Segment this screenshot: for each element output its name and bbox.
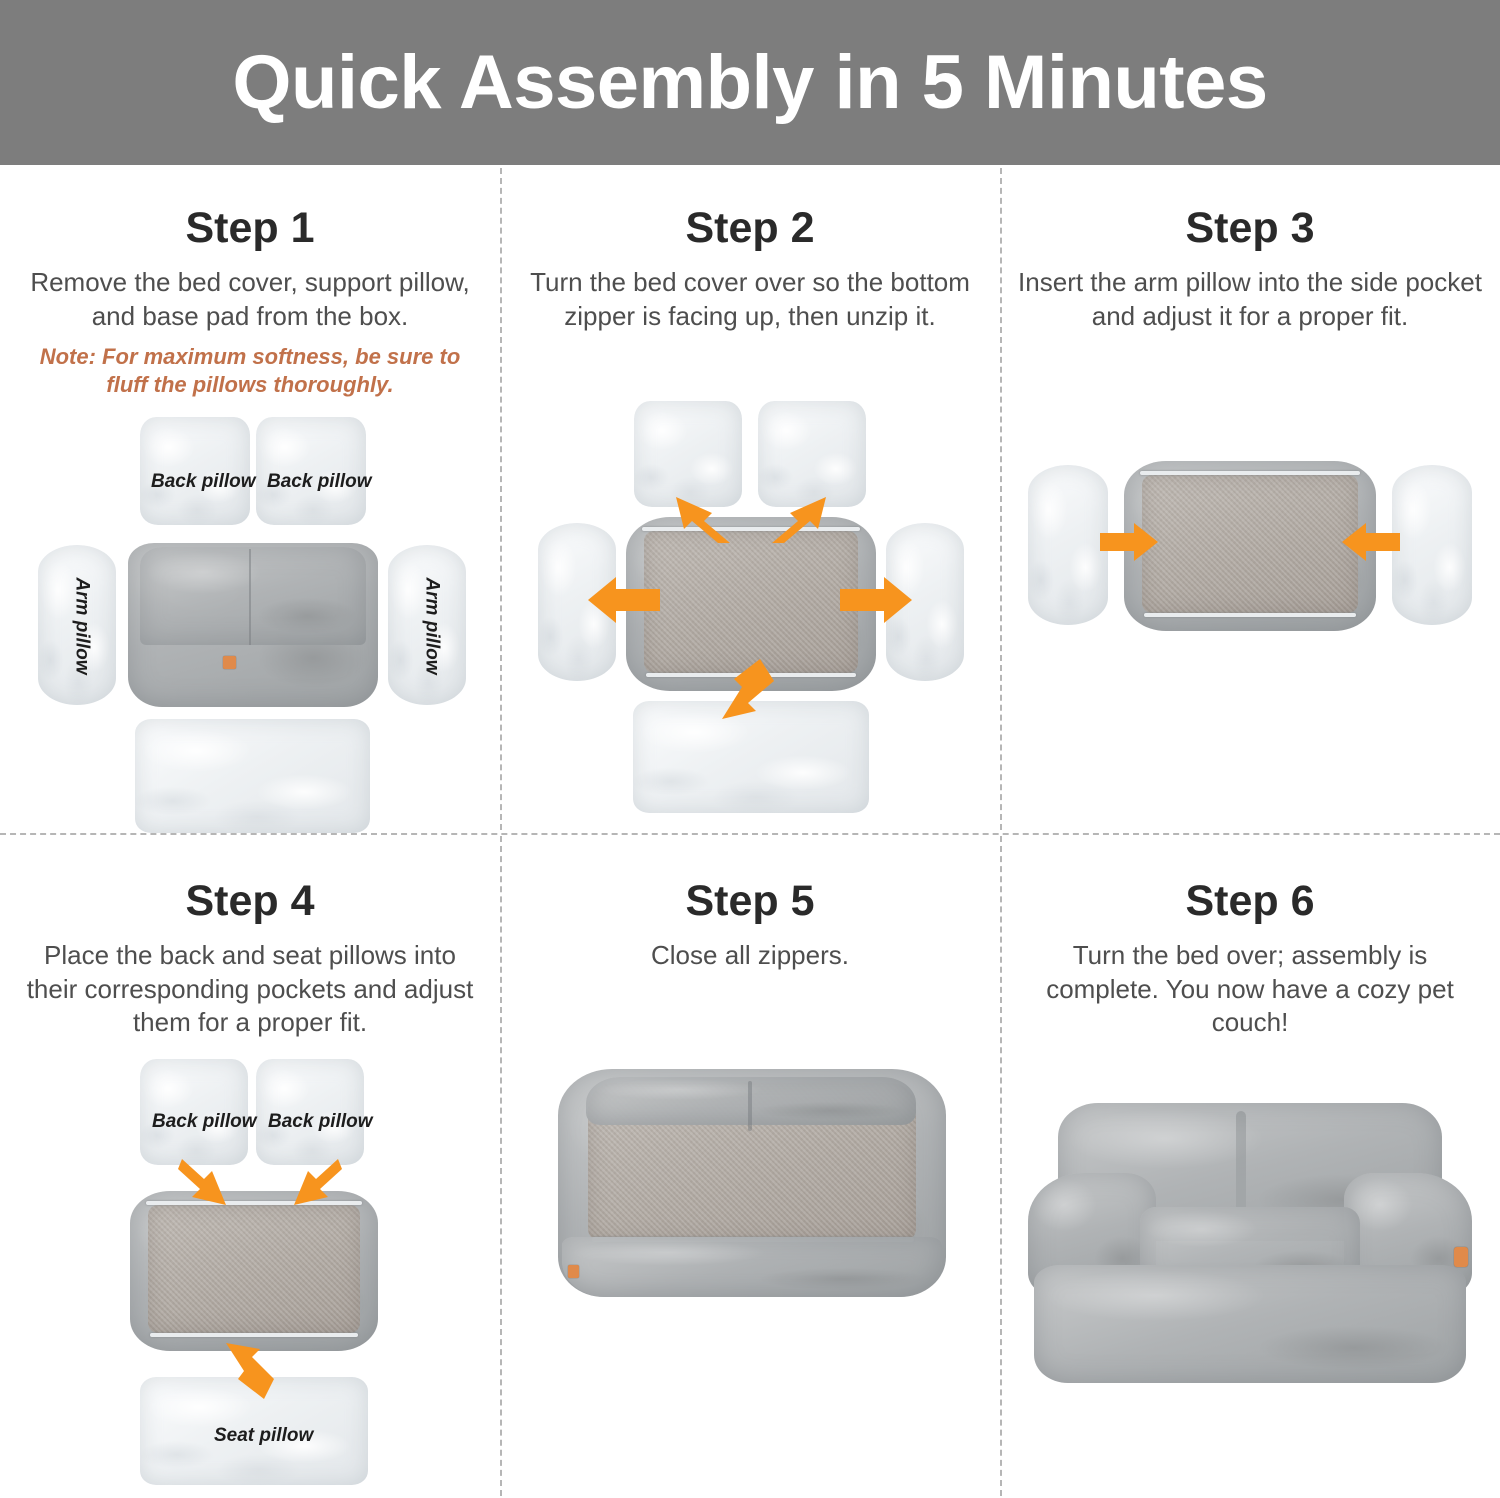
step-5-text-block: Step 5 Close all zippers. (500, 878, 1000, 973)
step-2-title: Step 2 (518, 205, 982, 252)
arrow-left-icon (586, 573, 662, 627)
brand-tag-icon (223, 656, 236, 669)
bed-cover-liner (1142, 475, 1358, 613)
step-1-text-block: Step 1 Remove the bed cover, support pil… (0, 205, 500, 399)
header-banner: Quick Assembly in 5 Minutes (0, 0, 1500, 165)
bed-cover-liner (644, 531, 858, 673)
arrow-up-insert-icon (222, 1339, 278, 1401)
zipper-bottom (1144, 613, 1356, 617)
step-2-illustration (500, 401, 1000, 831)
step-4-illustration: Back pillow Back pillow Seat pillow (0, 1059, 500, 1479)
brand-tag-icon (568, 1265, 579, 1278)
step-4-text-block: Step 4 Place the back and seat pillows i… (0, 878, 500, 1039)
base-pad (135, 719, 370, 833)
step-1-illustration: Back pillow Back pillow Arm pillow Arm p… (0, 417, 500, 847)
assembly-infographic: Quick Assembly in 5 Minutes Step 1 Remov… (0, 0, 1500, 1498)
back-pillow-left-label: Back pillow (152, 1111, 257, 1133)
step-6-text-block: Step 6 Turn the bed over; assembly is co… (1000, 878, 1500, 1039)
step-3-illustration (1000, 443, 1500, 743)
step-1-note: Note: For maximum softness, be sure to f… (18, 343, 482, 399)
arrow-down-right-icon (172, 1155, 232, 1215)
step-cell-5: Step 5 Close all zippers. (500, 878, 1000, 1391)
back-pillow-left-label: Back pillow (151, 471, 256, 493)
step-cell-6: Step 6 Turn the bed over; assembly is co… (1000, 878, 1500, 1419)
seat-pillow-label: Seat pillow (214, 1425, 313, 1447)
brand-tag-icon (1454, 1247, 1468, 1267)
step-6-title: Step 6 (1018, 878, 1482, 925)
bed-cover-backrest (140, 547, 366, 645)
step-2-description: Turn the bed cover over so the bottom zi… (518, 266, 982, 333)
step-4-title: Step 4 (18, 878, 482, 925)
arrow-down-icon (716, 657, 782, 729)
zipper-bottom (150, 1333, 358, 1337)
couch-base (1034, 1265, 1466, 1383)
step-6-description: Turn the bed over; assembly is complete.… (1018, 939, 1482, 1039)
bed-cover-seam (249, 549, 251, 645)
step-1-description: Remove the bed cover, support pillow, an… (18, 266, 482, 333)
arrow-up-right-icon (768, 481, 842, 545)
step-5-description: Close all zippers. (518, 939, 982, 972)
step-4-description: Place the back and seat pillows into the… (18, 939, 482, 1039)
arrow-up-left-icon (660, 481, 734, 545)
arrow-down-left-icon (288, 1155, 348, 1215)
step-1-title: Step 1 (18, 205, 482, 252)
arm-pillow-right (1392, 465, 1472, 625)
back-pillow-right-label: Back pillow (268, 1111, 373, 1133)
step-cell-2: Step 2 Turn the bed cover over so the bo… (500, 205, 1000, 831)
step-2-text-block: Step 2 Turn the bed cover over so the bo… (500, 205, 1000, 333)
step-3-description: Insert the arm pillow into the side pock… (1018, 266, 1482, 333)
step-5-title: Step 5 (518, 878, 982, 925)
arrow-right-icon (838, 573, 914, 627)
bed-closed-seam (748, 1081, 752, 1131)
arrow-left-insert-icon (1340, 521, 1402, 563)
back-pillow-right-label: Back pillow (267, 471, 372, 493)
bed-cover-liner (148, 1205, 360, 1333)
arrow-right-insert-icon (1098, 521, 1160, 563)
step-cell-4: Step 4 Place the back and seat pillows i… (0, 878, 500, 1479)
arm-pillow-left (1028, 465, 1108, 625)
bed-closed-base (562, 1237, 942, 1297)
step-6-illustration (1000, 1089, 1500, 1419)
page-title: Quick Assembly in 5 Minutes (232, 45, 1267, 121)
step-cell-3: Step 3 Insert the arm pillow into the si… (1000, 205, 1500, 743)
zipper-top (1140, 471, 1360, 475)
step-3-text-block: Step 3 Insert the arm pillow into the si… (1000, 205, 1500, 333)
arm-pillow-left-label: Arm pillow (71, 578, 93, 675)
step-cell-1: Step 1 Remove the bed cover, support pil… (0, 205, 500, 847)
step-5-illustration (500, 1061, 1000, 1391)
step-3-title: Step 3 (1018, 205, 1482, 252)
arm-pillow-right-label: Arm pillow (421, 578, 443, 675)
